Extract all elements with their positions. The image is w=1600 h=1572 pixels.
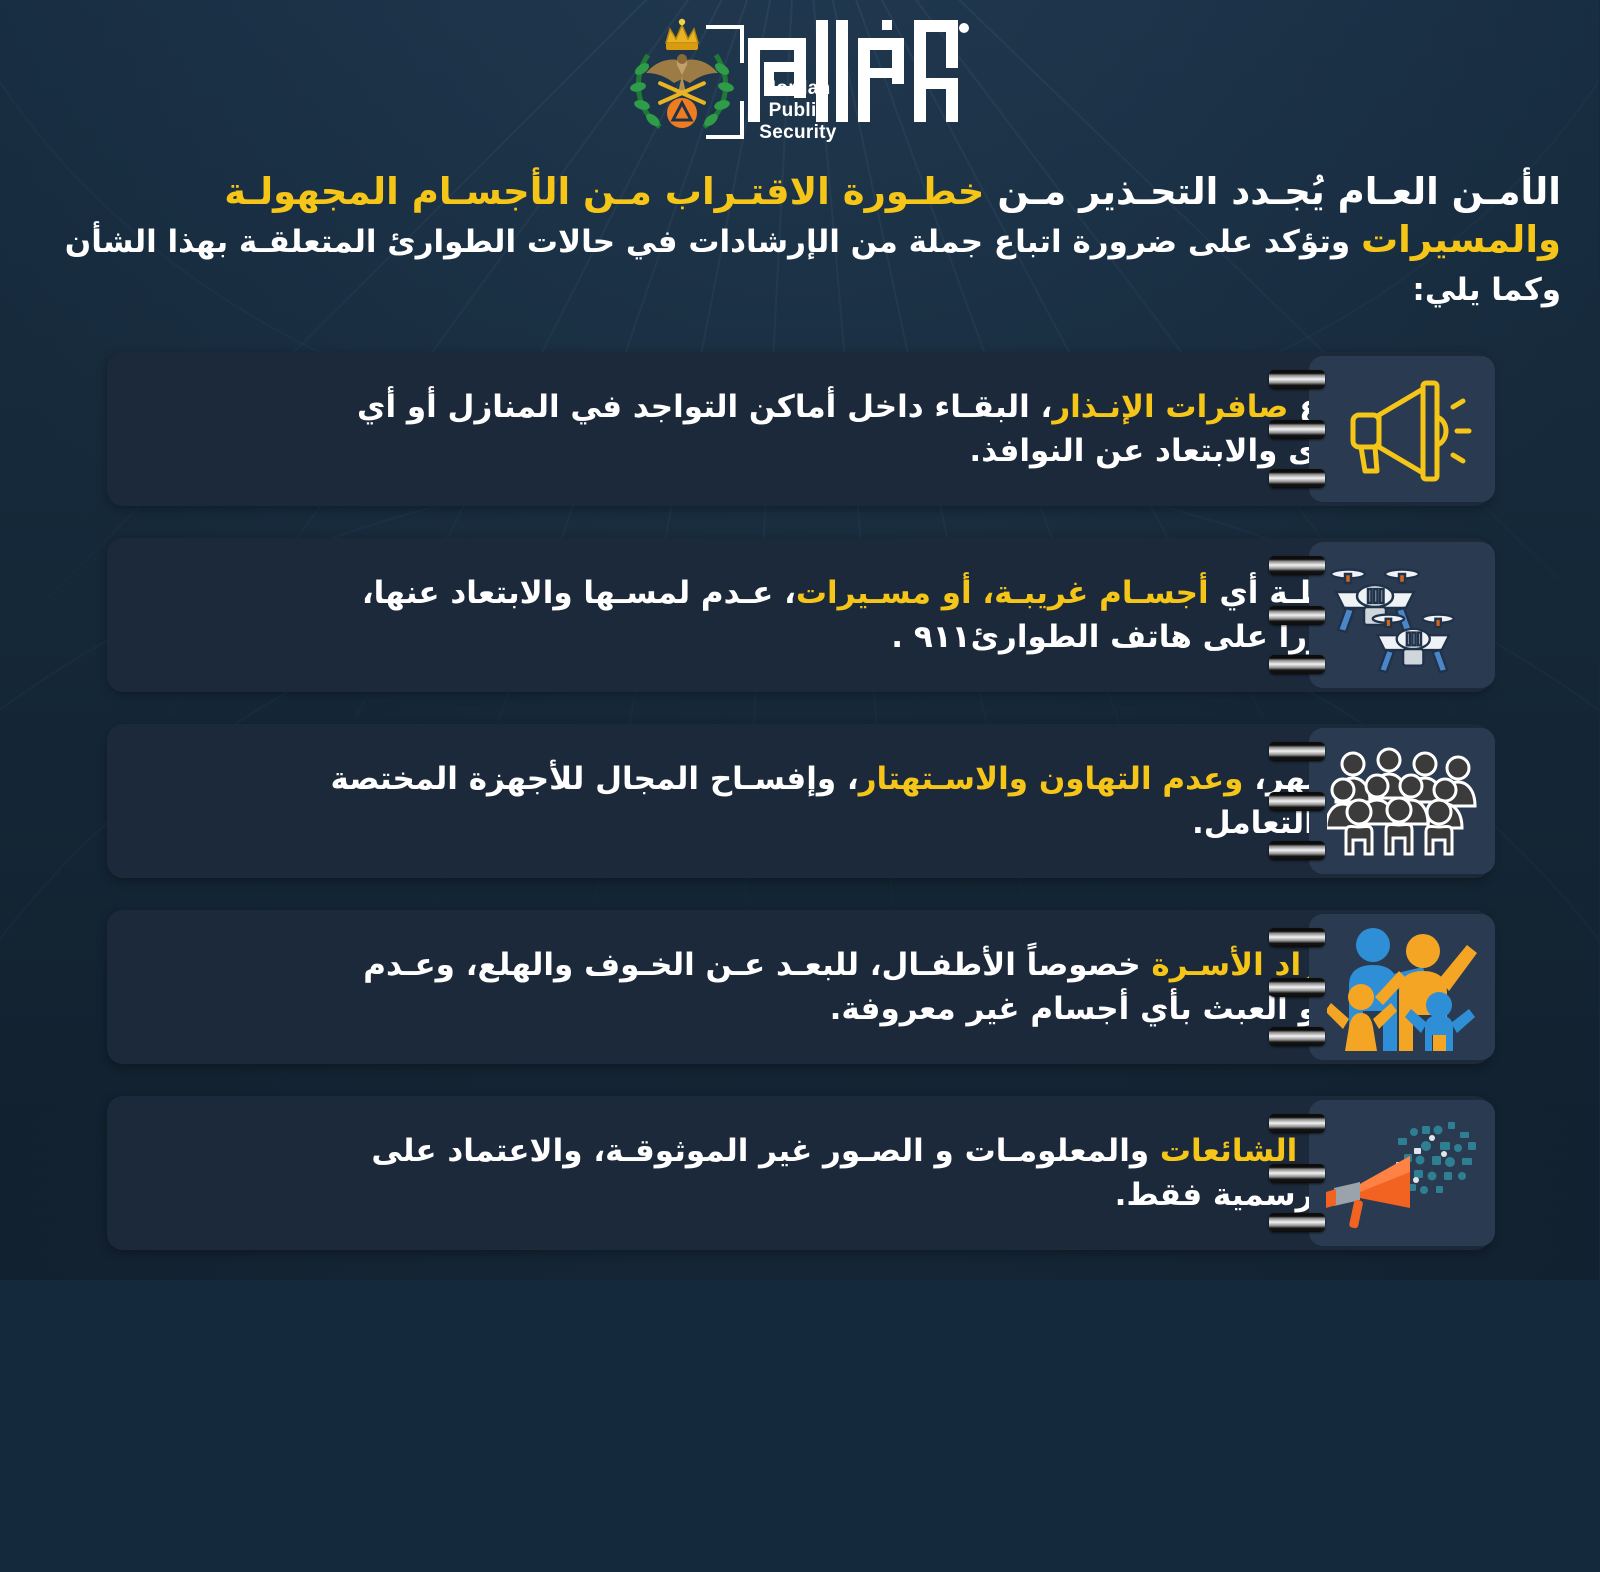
guideline-card: توعيـة أفـراد الأسـرة خصوصاً الأطفـال، ل…: [108, 910, 1492, 1064]
headline-part-1: الأمـن العـام يُجـدد التحـذير مـن: [985, 170, 1562, 213]
guideline-card: عـدم التجمهر، وعدم التهاون والاسـتهتار، …: [108, 724, 1492, 878]
list-item: توعيـة أفـراد الأسـرة خصوصاً الأطفـال، ل…: [0, 910, 1600, 1064]
guideline-card: عنـد ملاحظـة أي أجسـام غريبـة، أو مسـيرا…: [108, 538, 1492, 692]
rumors-megaphone-icon: [1323, 1112, 1483, 1234]
logo-lockup: Jordan Public Security: [627, 14, 973, 146]
corner-bracket-bottom-right-icon: [707, 101, 745, 139]
guideline-icon-tile: [1310, 356, 1496, 502]
list-item: عنـد ملاحظـة أي أجسـام غريبـة، أو مسـيرا…: [0, 538, 1600, 692]
guideline-card: عنـد سـماع صافرات الإنـذار، البقـاء داخل…: [108, 352, 1492, 506]
page-headline: الأمـن العـام يُجـدد التحـذير مـن خطـورة…: [46, 168, 1562, 312]
binder-rings: [1270, 556, 1326, 674]
guideline-icon-tile: [1310, 728, 1496, 874]
family-icon: [1328, 923, 1478, 1051]
binder-rings: [1270, 742, 1326, 860]
crowd-icon: [1328, 742, 1478, 860]
binder-rings: [1270, 1114, 1326, 1232]
guideline-text-highlight: وعدم التهاون والاسـتهتار: [860, 761, 1245, 797]
list-item: عدم تداول الشائعات والمعلومـات و الصـور …: [0, 1096, 1600, 1250]
guideline-card: عدم تداول الشائعات والمعلومـات و الصـور …: [108, 1096, 1492, 1250]
guideline-icon-tile: [1310, 1100, 1496, 1246]
corner-bracket-top-right-icon: [707, 25, 745, 63]
crown-icon: [667, 19, 699, 50]
header: Jordan Public Security: [0, 14, 1600, 164]
megaphone-alarm-icon: [1328, 373, 1478, 485]
list-item: عنـد سـماع صافرات الإنـذار، البقـاء داخل…: [0, 352, 1600, 506]
guidelines-list: عنـد سـماع صافرات الإنـذار، البقـاء داخل…: [0, 352, 1600, 1282]
binder-rings: [1270, 928, 1326, 1046]
guideline-text-highlight: أجسـام غريبـة، أو مسـيرات: [797, 575, 1210, 611]
headline-part-2: وتؤكد على ضرورة اتباع جملة من الإرشادات …: [66, 224, 1562, 308]
emblem: [627, 17, 739, 143]
guideline-icon-tile: [1310, 914, 1496, 1060]
list-item: عـدم التجمهر، وعدم التهاون والاسـتهتار، …: [0, 724, 1600, 878]
guideline-text-highlight: صافرات الإنـذار: [1053, 389, 1289, 425]
drones-icon: [1325, 556, 1481, 674]
brand-english-label: Jordan Public Security: [743, 78, 855, 144]
binder-rings: [1270, 370, 1326, 488]
guideline-icon-tile: [1310, 542, 1496, 688]
